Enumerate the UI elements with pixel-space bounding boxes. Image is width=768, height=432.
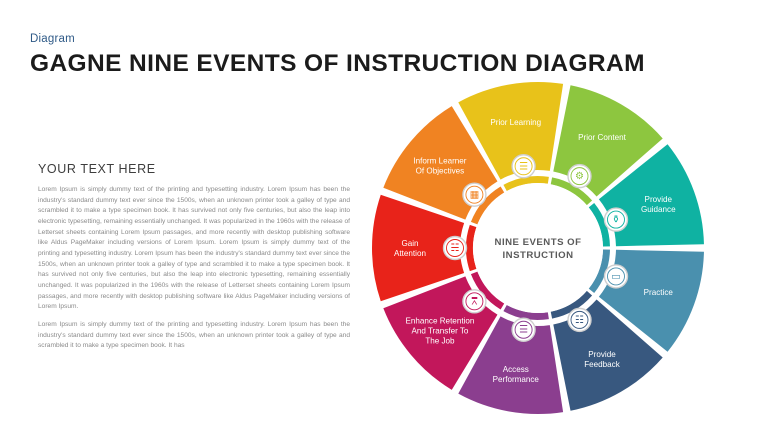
slice-label: Gain	[401, 239, 418, 248]
slice-label: Access	[503, 365, 529, 374]
badge-glyph: ▭	[611, 271, 620, 282]
slice-label: Enhance Retention	[406, 316, 475, 325]
books-stack-icon[interactable]: ☰	[512, 155, 535, 178]
team-transfer-icon[interactable]: ⩞	[463, 290, 486, 313]
slice-label: Prior Content	[578, 133, 626, 142]
left-text-panel: YOUR TEXT HERE Lorem Ipsum is simply dum…	[38, 162, 350, 359]
section-subheading: YOUR TEXT HERE	[38, 162, 350, 176]
badge-glyph: ☰	[519, 325, 528, 336]
slice-label: Feedback	[584, 360, 620, 369]
mentor-people-icon[interactable]: ⚱	[604, 208, 627, 231]
badge-glyph: ☷	[575, 315, 584, 326]
slice-label: Prior Learning	[490, 118, 541, 127]
laptop-desk-icon[interactable]: ▭	[604, 265, 627, 288]
presentation-board-icon[interactable]: ▦	[463, 183, 486, 206]
slice-label: Of Objectives	[416, 167, 465, 176]
slice-label: Inform Learner	[413, 157, 466, 166]
nine-events-wheel: NINE EVENTS OF INSTRUCTION GainAttention…	[368, 78, 708, 418]
slide-canvas: Diagram GAGNE NINE EVENTS OF INSTRUCTION…	[0, 0, 768, 432]
slice-label: Guidance	[641, 205, 676, 214]
document-gear-icon[interactable]: ⚙	[568, 165, 591, 188]
kicker-label: Diagram	[30, 33, 75, 45]
slice-label: Practice	[644, 288, 674, 297]
slice-label: Provide	[645, 195, 673, 204]
checklist-clipboard-icon[interactable]: ☷	[568, 308, 591, 331]
slice-label: And Transfer To	[411, 326, 468, 335]
slice-label: The Job	[425, 336, 455, 345]
wheel-svg: NINE EVENTS OF INSTRUCTION GainAttention…	[368, 78, 708, 418]
slice-label: Provide	[588, 350, 616, 359]
wheel-center-disc	[473, 183, 603, 313]
body-paragraph: Lorem Ipsum is simply dummy text of the …	[38, 185, 350, 313]
body-paragraph: Lorem Ipsum is simply dummy text of the …	[38, 320, 350, 352]
badge-glyph: ⩞	[471, 296, 477, 307]
center-title-line1: NINE EVENTS OF	[495, 237, 582, 248]
badge-glyph: ⚱	[612, 215, 620, 226]
page-title: GAGNE NINE EVENTS OF INSTRUCTION DIAGRAM	[30, 50, 645, 78]
slice-label: Attention	[394, 249, 426, 258]
badge-glyph: ⚙	[575, 171, 584, 182]
badge-glyph: ▦	[470, 190, 479, 201]
center-title-line2: INSTRUCTION	[502, 250, 573, 261]
badge-glyph: ☵	[451, 243, 460, 254]
slice-label: Performance	[493, 375, 540, 384]
brain-idea-icon[interactable]: ☵	[444, 237, 467, 260]
report-page-icon[interactable]: ☰	[512, 318, 535, 341]
badge-glyph: ☰	[519, 161, 528, 172]
